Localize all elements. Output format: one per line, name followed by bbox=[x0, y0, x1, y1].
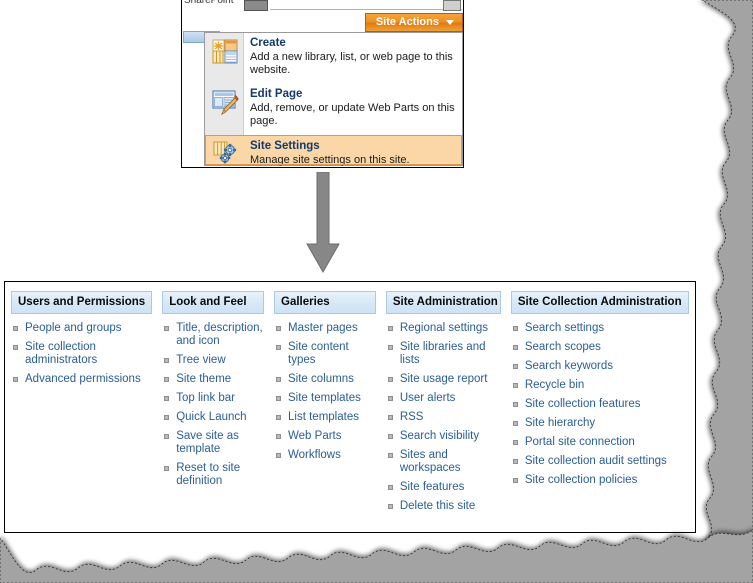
list-item[interactable]: Master pages bbox=[274, 322, 376, 335]
list-item[interactable]: People and groups bbox=[11, 322, 152, 335]
link-delete-this-site[interactable]: Delete this site bbox=[400, 500, 475, 512]
bullet-square-icon bbox=[388, 396, 393, 401]
link-list-galleries: Master pages Site content types Site col… bbox=[274, 322, 376, 462]
link-search-scopes[interactable]: Search scopes bbox=[525, 341, 601, 353]
page-pencil-icon bbox=[205, 84, 244, 135]
arrow-down-icon bbox=[305, 172, 341, 274]
list-item[interactable]: Search scopes bbox=[511, 341, 689, 354]
menu-item-site-settings-description: Manage site settings on this site. bbox=[250, 154, 410, 167]
menu-item-site-settings-text: Site Settings Manage site settings on th… bbox=[244, 136, 416, 167]
link-recycle-bin[interactable]: Recycle bin bbox=[525, 379, 584, 391]
browser-address-line bbox=[270, 9, 462, 10]
bullet-square-icon bbox=[388, 415, 393, 420]
menu-item-create-text: Create Add a new library, list, or web p… bbox=[244, 33, 462, 77]
menu-item-edit-page[interactable]: Edit Page Add, remove, or update Web Par… bbox=[205, 84, 462, 135]
bullet-square-icon bbox=[513, 459, 518, 464]
bullet-square-icon bbox=[276, 396, 281, 401]
list-item[interactable]: Web Parts bbox=[274, 430, 376, 443]
list-item[interactable]: Search settings bbox=[511, 322, 689, 335]
bullet-square-icon bbox=[164, 396, 169, 401]
link-web-parts[interactable]: Web Parts bbox=[288, 430, 341, 442]
list-item[interactable]: Search keywords bbox=[511, 360, 689, 373]
list-item[interactable]: Sites and workspaces bbox=[386, 449, 501, 475]
link-site-columns[interactable]: Site columns bbox=[288, 373, 354, 385]
site-actions-screenshot-mock: SharePoint Site Actions bbox=[181, 0, 464, 168]
bullet-square-icon bbox=[513, 421, 518, 426]
bullet-square-icon bbox=[388, 504, 393, 509]
settings-columns: Users and Permissions People and groups … bbox=[5, 282, 695, 519]
create-list-icon bbox=[205, 33, 244, 84]
list-item[interactable]: Site hierarchy bbox=[511, 417, 689, 430]
link-list-users-and-permissions: People and groups Site collection admini… bbox=[11, 322, 152, 386]
link-reset-to-site-definition[interactable]: Reset to site definition bbox=[176, 462, 240, 487]
column-header-galleries: Galleries bbox=[274, 291, 376, 314]
list-item[interactable]: Site theme bbox=[162, 373, 264, 386]
list-item[interactable]: Tree view bbox=[162, 354, 264, 367]
browser-corner-block bbox=[443, 0, 461, 11]
link-advanced-permissions[interactable]: Advanced permissions bbox=[25, 373, 141, 385]
column-header-look-and-feel: Look and Feel bbox=[162, 291, 264, 314]
bullet-square-icon bbox=[164, 466, 169, 471]
list-item[interactable]: Search visibility bbox=[386, 430, 501, 443]
bullet-square-icon bbox=[164, 358, 169, 363]
bullet-square-icon bbox=[388, 453, 393, 458]
link-search-visibility[interactable]: Search visibility bbox=[400, 430, 479, 442]
bullet-square-icon bbox=[276, 434, 281, 439]
list-item[interactable]: Site collection features bbox=[511, 398, 689, 411]
menu-item-create[interactable]: Create Add a new library, list, or web p… bbox=[205, 33, 462, 84]
bullet-square-icon bbox=[13, 377, 18, 382]
bullet-square-icon bbox=[513, 478, 518, 483]
list-item[interactable]: Site collection policies bbox=[511, 474, 689, 487]
link-save-site-as-template[interactable]: Save site as template bbox=[176, 430, 239, 455]
bullet-square-icon bbox=[388, 377, 393, 382]
link-site-collection-audit-settings[interactable]: Site collection audit settings bbox=[525, 455, 667, 467]
bullet-square-icon bbox=[164, 415, 169, 420]
bullet-square-icon bbox=[276, 377, 281, 382]
site-settings-panel: Users and Permissions People and groups … bbox=[4, 281, 696, 533]
link-site-usage-report[interactable]: Site usage report bbox=[400, 373, 488, 385]
settings-column-site-collection-administration: Site Collection Administration Search se… bbox=[511, 291, 689, 519]
link-site-collection-features[interactable]: Site collection features bbox=[525, 398, 641, 410]
menu-item-site-settings-title: Site Settings bbox=[250, 140, 410, 153]
link-top-link-bar[interactable]: Top link bar bbox=[176, 392, 235, 404]
list-item[interactable]: Recycle bin bbox=[511, 379, 689, 392]
menu-item-edit-page-title: Edit Page bbox=[250, 88, 456, 101]
list-item[interactable]: Regional settings bbox=[386, 322, 501, 335]
link-site-collection-policies[interactable]: Site collection policies bbox=[525, 474, 638, 486]
link-portal-site-connection[interactable]: Portal site connection bbox=[525, 436, 635, 448]
list-item[interactable]: Portal site connection bbox=[511, 436, 689, 449]
link-search-keywords[interactable]: Search keywords bbox=[525, 360, 613, 372]
list-item[interactable]: Top link bar bbox=[162, 392, 264, 405]
link-search-settings[interactable]: Search settings bbox=[525, 322, 604, 334]
list-item[interactable]: Site collection administrators bbox=[11, 341, 152, 367]
link-site-libraries-and-lists[interactable]: Site libraries and lists bbox=[400, 341, 486, 366]
list-item[interactable]: Site content types bbox=[274, 341, 376, 367]
menu-item-create-description: Add a new library, list, or web page to … bbox=[250, 51, 456, 77]
column-header-site-administration: Site Administration bbox=[386, 291, 501, 314]
link-list-site-collection-administration: Search settings Search scopes Search key… bbox=[511, 322, 689, 487]
bullet-square-icon bbox=[164, 377, 169, 382]
list-item[interactable]: Site collection audit settings bbox=[511, 455, 689, 468]
link-site-collection-administrators[interactable]: Site collection administrators bbox=[25, 341, 97, 366]
link-people-and-groups[interactable]: People and groups bbox=[25, 322, 122, 334]
bullet-square-icon bbox=[388, 326, 393, 331]
site-actions-button[interactable]: Site Actions bbox=[365, 13, 463, 32]
menu-item-edit-page-text: Edit Page Add, remove, or update Web Par… bbox=[244, 84, 462, 128]
list-item[interactable]: Advanced permissions bbox=[11, 373, 152, 386]
column-header-site-collection-administration: Site Collection Administration bbox=[511, 291, 689, 314]
link-tree-view[interactable]: Tree view bbox=[176, 354, 225, 366]
column-header-users-and-permissions: Users and Permissions bbox=[11, 291, 152, 314]
settings-column-site-administration: Site Administration Regional settings Si… bbox=[386, 291, 501, 519]
bullet-square-icon bbox=[388, 485, 393, 490]
settings-column-galleries: Galleries Master pages Site content type… bbox=[274, 291, 376, 519]
page-gears-icon bbox=[205, 136, 244, 164]
list-item[interactable]: List templates bbox=[274, 411, 376, 424]
bullet-square-icon bbox=[513, 402, 518, 407]
site-actions-label: Site Actions bbox=[376, 13, 439, 32]
link-site-hierarchy[interactable]: Site hierarchy bbox=[525, 417, 595, 429]
list-item[interactable]: Save site as template bbox=[162, 430, 264, 456]
bullet-square-icon bbox=[164, 326, 169, 331]
menu-item-edit-page-description: Add, remove, or update Web Parts on this… bbox=[250, 102, 456, 128]
list-item[interactable]: Site columns bbox=[274, 373, 376, 386]
bullet-square-icon bbox=[513, 440, 518, 445]
link-quick-launch[interactable]: Quick Launch bbox=[176, 411, 246, 423]
list-item[interactable]: Title, description, and icon bbox=[162, 322, 264, 348]
bullet-square-icon bbox=[13, 345, 18, 350]
menu-item-create-title: Create bbox=[250, 37, 456, 50]
list-item[interactable]: Workflows bbox=[274, 449, 376, 462]
link-site-theme[interactable]: Site theme bbox=[176, 373, 231, 385]
list-item[interactable]: Site usage report bbox=[386, 373, 501, 386]
list-item[interactable]: Site templates bbox=[274, 392, 376, 405]
list-item[interactable]: User alerts bbox=[386, 392, 501, 405]
link-list-site-administration: Regional settings Site libraries and lis… bbox=[386, 322, 501, 513]
list-item[interactable]: Delete this site bbox=[386, 500, 501, 513]
browser-title-fragment: SharePoint bbox=[184, 0, 233, 6]
bullet-square-icon bbox=[513, 383, 518, 388]
browser-toolbar-block bbox=[244, 0, 268, 11]
link-list-templates[interactable]: List templates bbox=[288, 411, 359, 423]
site-actions-menu[interactable]: Create Add a new library, list, or web p… bbox=[204, 32, 463, 166]
list-item[interactable]: RSS bbox=[386, 411, 501, 424]
bullet-square-icon bbox=[276, 345, 281, 350]
bullet-square-icon bbox=[276, 453, 281, 458]
bullet-square-icon bbox=[388, 345, 393, 350]
bullet-square-icon bbox=[276, 415, 281, 420]
settings-column-look-and-feel: Look and Feel Title, description, and ic… bbox=[162, 291, 264, 519]
bullet-square-icon bbox=[13, 326, 18, 331]
list-item[interactable]: Site libraries and lists bbox=[386, 341, 501, 367]
bullet-square-icon bbox=[513, 326, 518, 331]
link-site-content-types[interactable]: Site content types bbox=[288, 341, 349, 366]
bullet-square-icon bbox=[276, 326, 281, 331]
link-rss[interactable]: RSS bbox=[400, 411, 424, 423]
link-sites-and-workspaces[interactable]: Sites and workspaces bbox=[400, 449, 461, 474]
bullet-square-icon bbox=[388, 434, 393, 439]
list-item[interactable]: Reset to site definition bbox=[162, 462, 264, 488]
chevron-down-icon bbox=[446, 20, 454, 25]
list-item[interactable]: Site features bbox=[386, 481, 501, 494]
bullet-square-icon bbox=[513, 345, 518, 350]
settings-column-users-and-permissions: Users and Permissions People and groups … bbox=[11, 291, 152, 519]
menu-item-site-settings[interactable]: Site Settings Manage site settings on th… bbox=[205, 135, 462, 165]
link-site-templates[interactable]: Site templates bbox=[288, 392, 361, 404]
link-site-features[interactable]: Site features bbox=[400, 481, 465, 493]
link-regional-settings[interactable]: Regional settings bbox=[400, 322, 488, 334]
link-title-description-and-icon[interactable]: Title, description, and icon bbox=[176, 322, 263, 347]
link-workflows[interactable]: Workflows bbox=[288, 449, 341, 461]
link-list-look-and-feel: Title, description, and icon Tree view S… bbox=[162, 322, 264, 488]
list-item[interactable]: Quick Launch bbox=[162, 411, 264, 424]
link-user-alerts[interactable]: User alerts bbox=[400, 392, 456, 404]
link-master-pages[interactable]: Master pages bbox=[288, 322, 358, 334]
bullet-square-icon bbox=[164, 434, 169, 439]
bullet-square-icon bbox=[513, 364, 518, 369]
